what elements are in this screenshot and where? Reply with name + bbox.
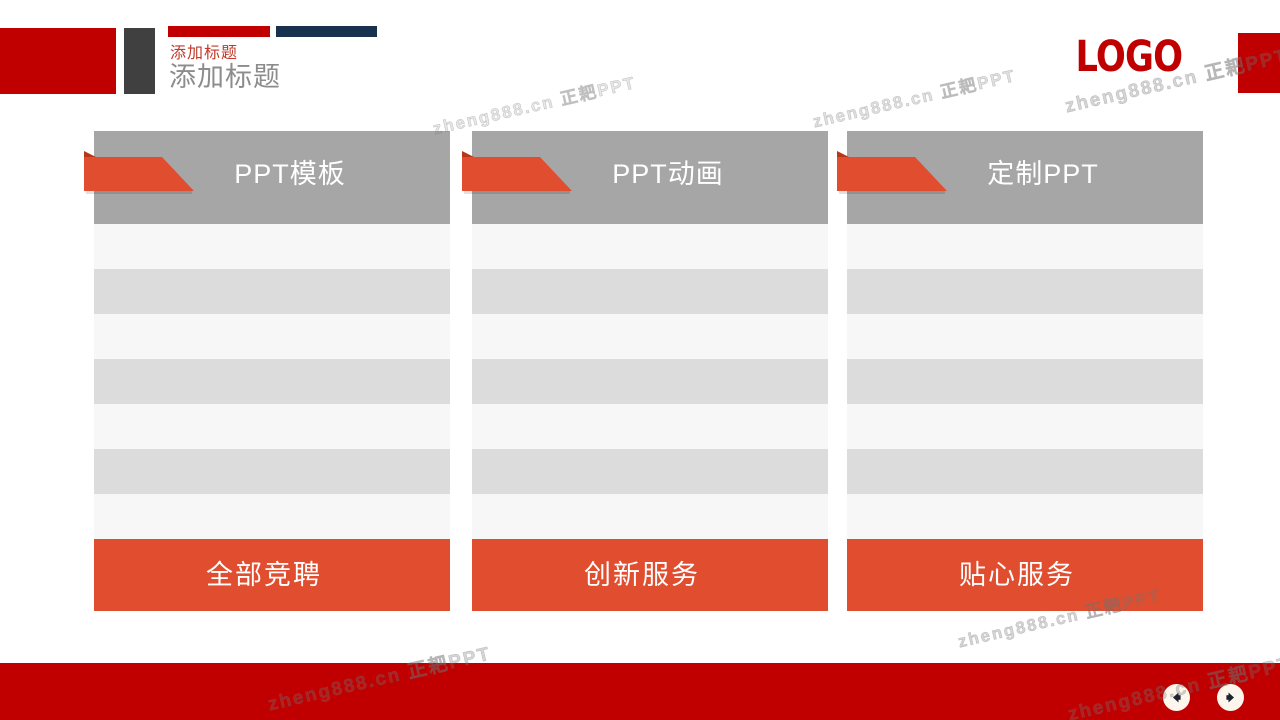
card-row[interactable] (847, 269, 1203, 314)
card-row[interactable] (472, 269, 828, 314)
card-row[interactable] (847, 404, 1203, 449)
card-row[interactable] (472, 314, 828, 359)
card-column-1[interactable]: PPT模板 全部竞聘 (94, 131, 450, 621)
card-row[interactable] (472, 404, 828, 449)
card-footer-label-3: 贴心服务 (959, 562, 1075, 589)
card-title-1: PPT模板 (94, 161, 450, 188)
card-row[interactable] (94, 269, 450, 314)
prev-slide-button[interactable] (1163, 684, 1190, 711)
card-row[interactable] (94, 359, 450, 404)
card-column-3[interactable]: 定制PPT 贴心服务 (847, 131, 1203, 621)
card-row[interactable] (472, 494, 828, 539)
card-column-2[interactable]: PPT动画 创新服务 (472, 131, 828, 621)
arrow-right-icon (1223, 690, 1238, 705)
cards-region: PPT模板 全部竞聘 P (0, 0, 1280, 720)
card-row[interactable] (94, 224, 450, 269)
card-footer-label-2: 创新服务 (584, 562, 700, 589)
card-footer-button-3[interactable]: 贴心服务 (847, 539, 1203, 611)
card-header-1: PPT模板 (94, 131, 450, 224)
next-slide-button[interactable] (1217, 684, 1244, 711)
card-title-3: 定制PPT (847, 161, 1203, 188)
card-row[interactable] (847, 359, 1203, 404)
card-row[interactable] (472, 359, 828, 404)
card-rows-3 (847, 224, 1203, 539)
card-header-2: PPT动画 (472, 131, 828, 224)
card-footer-button-2[interactable]: 创新服务 (472, 539, 828, 611)
card-row[interactable] (847, 224, 1203, 269)
card-row[interactable] (847, 314, 1203, 359)
card-header-3: 定制PPT (847, 131, 1203, 224)
card-row[interactable] (94, 404, 450, 449)
card-rows-2 (472, 224, 828, 539)
card-row[interactable] (472, 449, 828, 494)
card-row[interactable] (472, 224, 828, 269)
card-footer-label-1: 全部竞聘 (206, 562, 322, 589)
footer-bar (0, 663, 1280, 720)
card-rows-1 (94, 224, 450, 539)
card-row[interactable] (94, 314, 450, 359)
card-row[interactable] (94, 494, 450, 539)
card-row[interactable] (847, 494, 1203, 539)
card-row[interactable] (847, 449, 1203, 494)
arrow-left-icon (1169, 690, 1184, 705)
slide-canvas: 添加标题 添加标题 LOGO PPT模板 (0, 0, 1280, 720)
card-row[interactable] (94, 449, 450, 494)
card-footer-button-1[interactable]: 全部竞聘 (94, 539, 450, 611)
card-title-2: PPT动画 (472, 161, 828, 188)
